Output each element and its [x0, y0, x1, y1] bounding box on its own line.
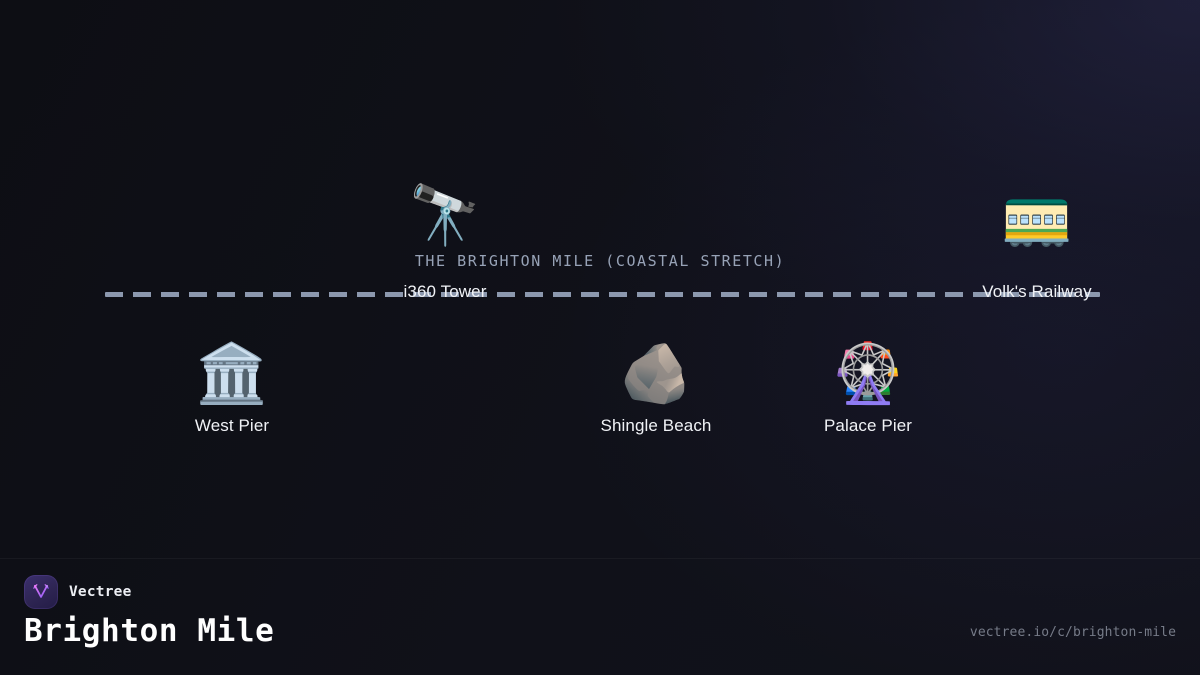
page-title: Brighton Mile: [24, 613, 274, 649]
footer-bar: Vectree Brighton Mile vectree.io/c/brigh…: [0, 558, 1200, 675]
timeline-node-label: i360 Tower: [404, 282, 487, 302]
timeline-node[interactable]: 🪨Shingle Beach: [601, 344, 712, 436]
timeline-node-label: Palace Pier: [824, 416, 912, 436]
classical-building-icon: 🏛️: [196, 344, 268, 402]
railway-car-icon: 🚃: [1001, 186, 1073, 244]
timeline-node[interactable]: 🔭i360 Tower: [404, 186, 487, 302]
timeline-node-label: West Pier: [195, 416, 269, 436]
telescope-icon: 🔭: [409, 186, 481, 244]
timeline-node[interactable]: 🏛️West Pier: [195, 344, 269, 436]
timeline-axis: [105, 292, 1100, 297]
vectree-logo-icon: [24, 575, 58, 609]
brand: Vectree: [24, 575, 132, 609]
timeline-node[interactable]: 🚃Volk's Railway: [982, 186, 1092, 302]
brand-name: Vectree: [69, 584, 132, 600]
rock-icon: 🪨: [620, 344, 692, 402]
ferris-wheel-icon: 🎡: [832, 344, 904, 402]
footer-url: vectree.io/c/brighton-mile: [970, 625, 1176, 640]
timeline-node-label: Volk's Railway: [982, 282, 1092, 302]
timeline-node-label: Shingle Beach: [601, 416, 712, 436]
timeline-node[interactable]: 🎡Palace Pier: [824, 344, 912, 436]
